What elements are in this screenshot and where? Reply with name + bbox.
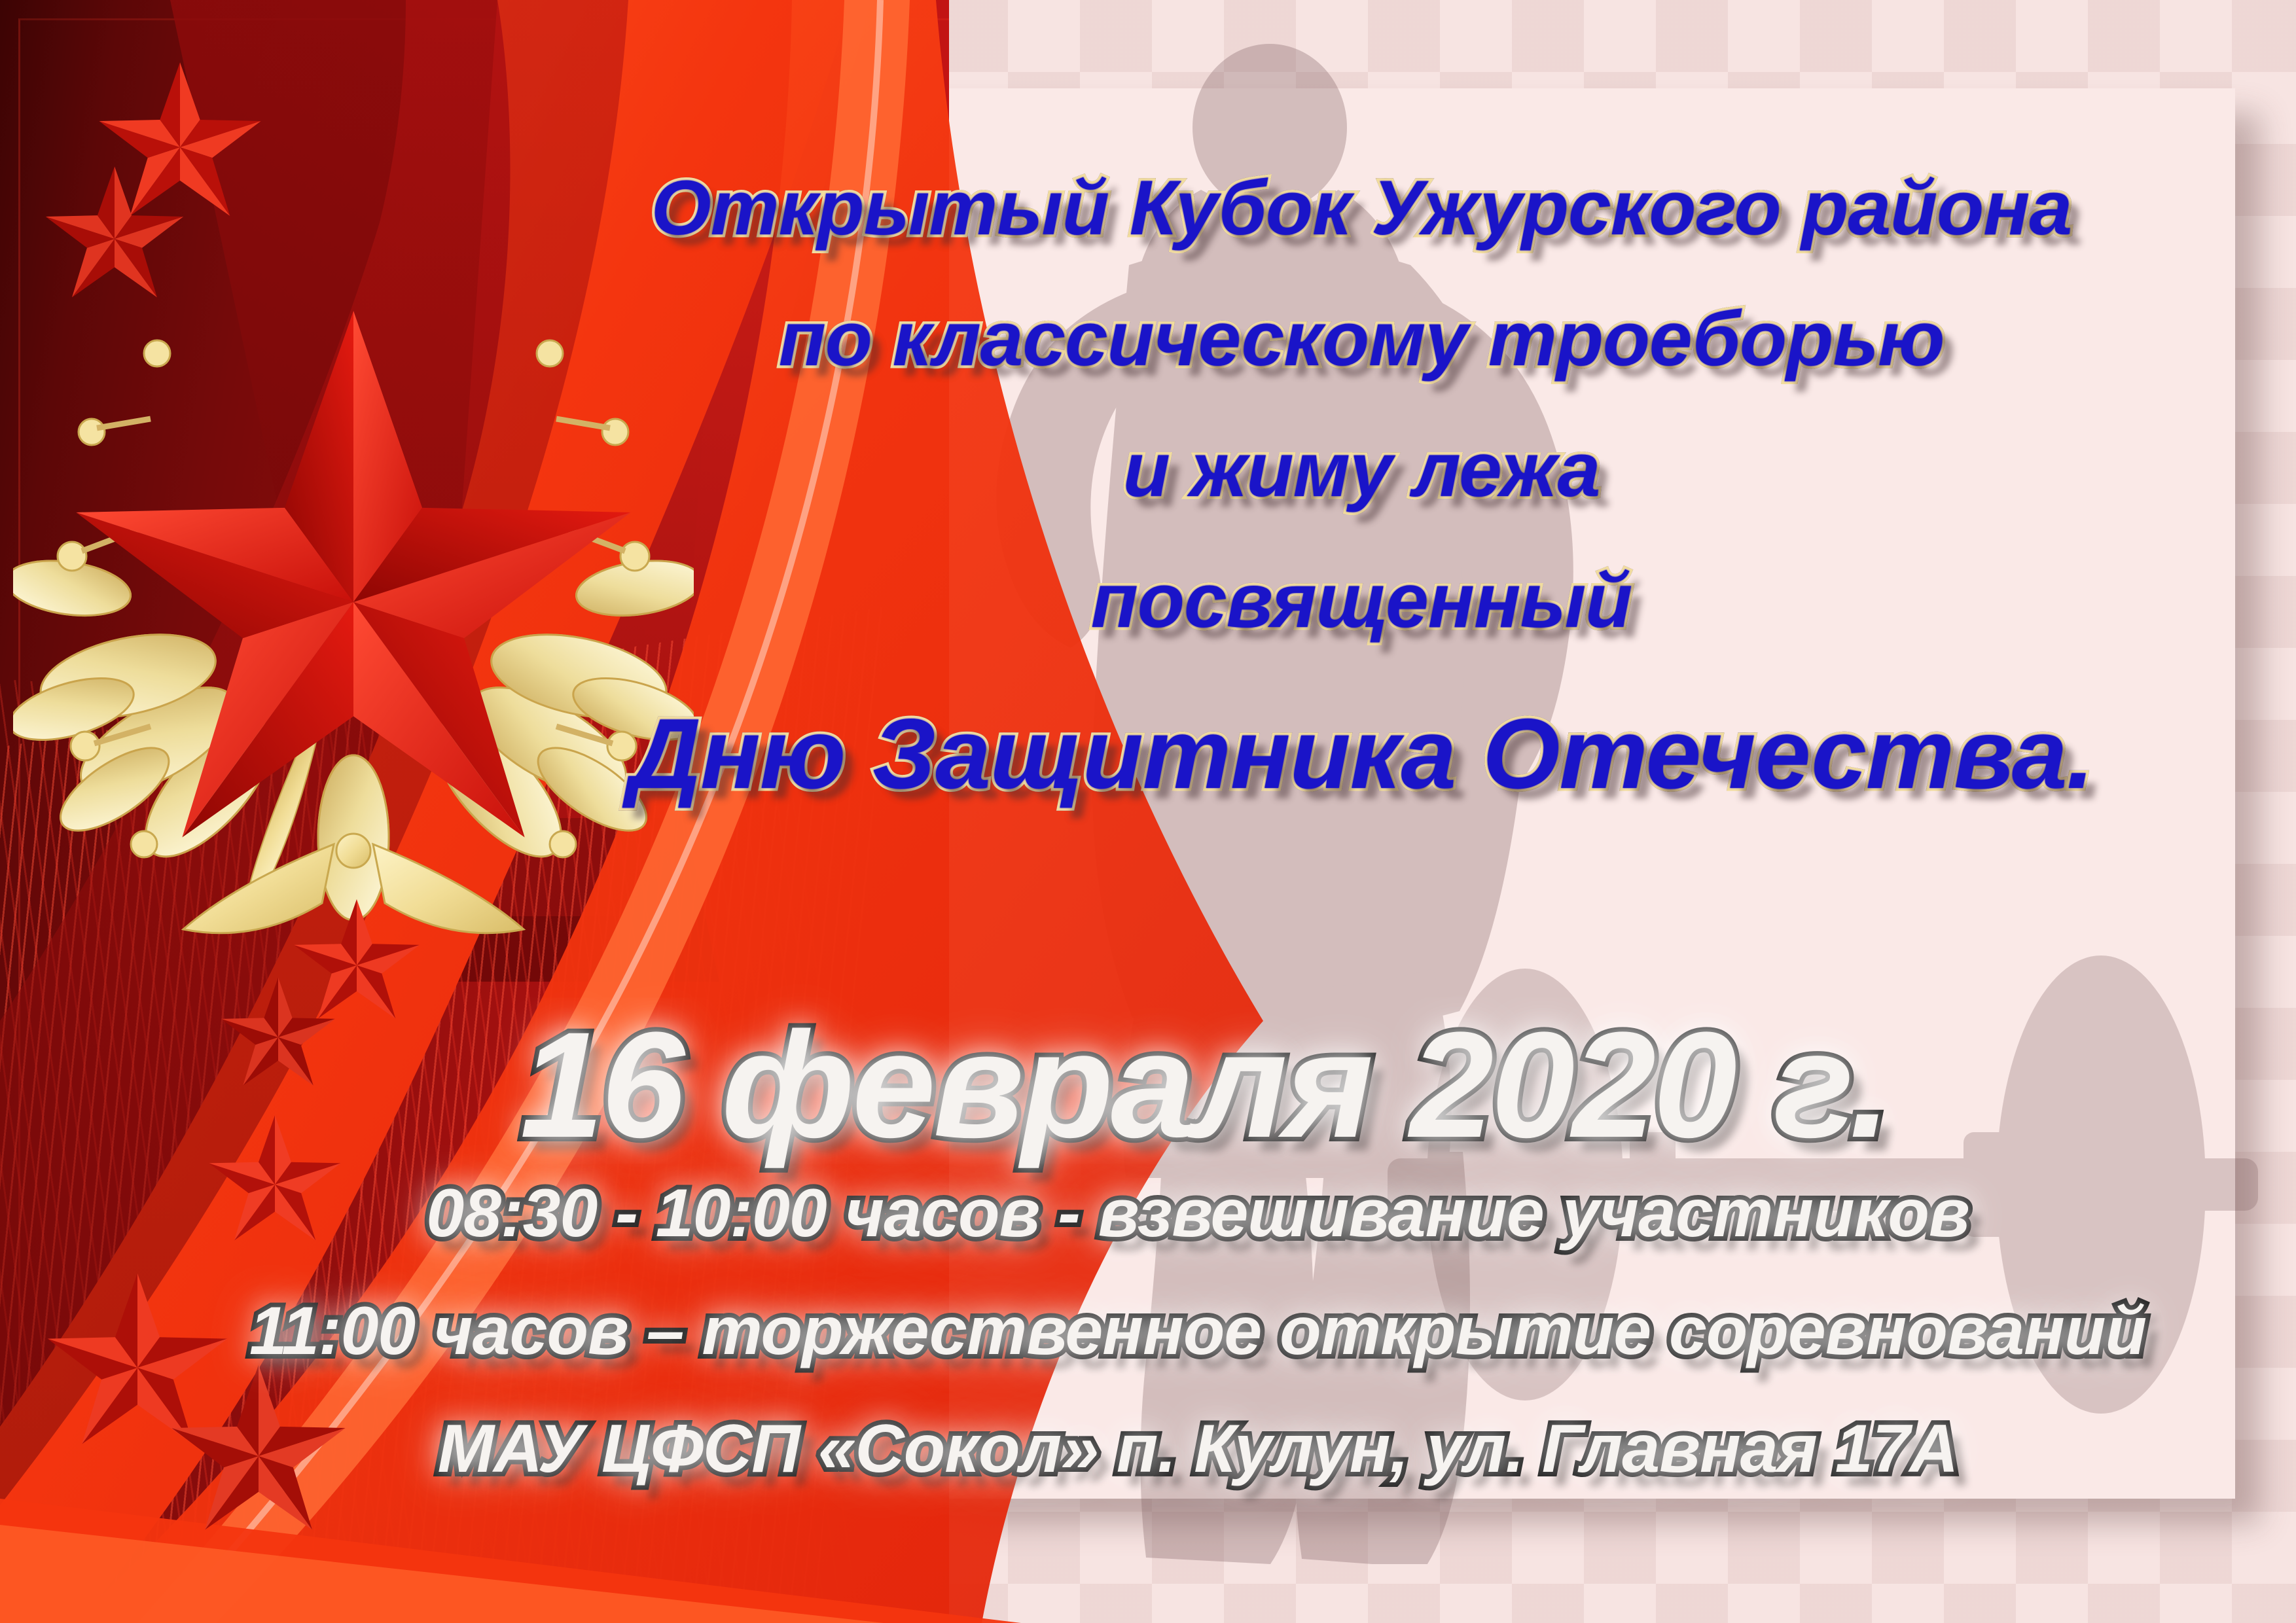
venue-address: МАУ ЦФСП «Сокол» п. Кулун, ул. Главная 1… — [281, 1410, 2114, 1488]
poster-text-block: Открытый Кубок Ужурского района по класс… — [0, 0, 2296, 1623]
headline-line-3: и жиму лежа — [576, 425, 2147, 514]
schedule-line-weighin: 08:30 - 10:00 часов - взвешивание участн… — [281, 1175, 2114, 1253]
headline-line-1: Открытый Кубок Ужурского района — [576, 164, 2147, 253]
poster-canvas: Открытый Кубок Ужурского района по класс… — [0, 0, 2296, 1623]
schedule-line-opening: 11:00 часов – торжественное открытие сор… — [216, 1293, 2179, 1370]
headline-line-2: по классическому троеборью — [576, 294, 2147, 383]
headline-line-4: посвященный — [576, 556, 2147, 645]
event-date: 16 февраля 2020 г. — [353, 998, 2055, 1171]
headline-line-5: Дню Защитника Отечества. — [576, 697, 2147, 811]
